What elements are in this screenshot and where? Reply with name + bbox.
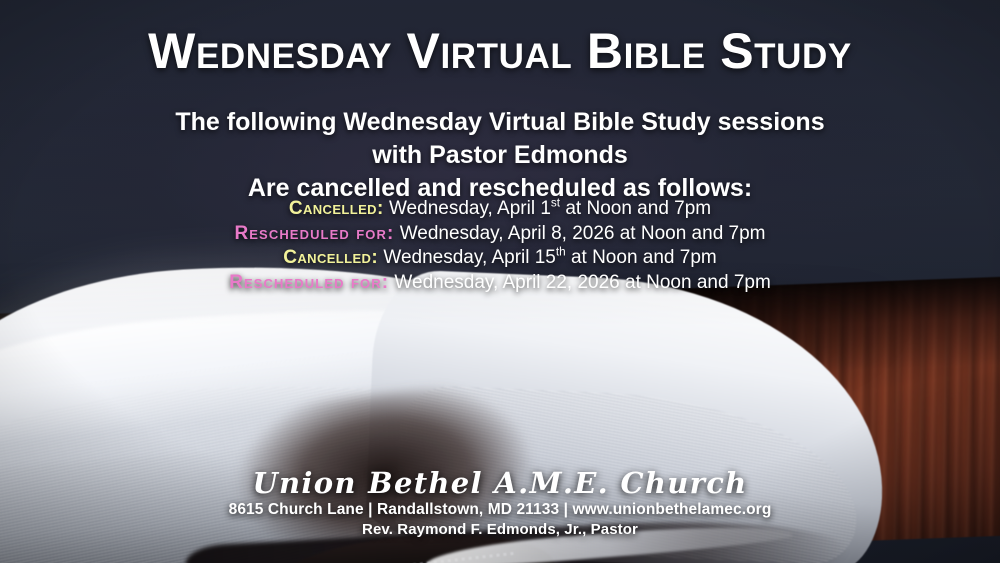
- schedule-value: Wednesday, April 15th at Noon and 7pm: [383, 247, 716, 268]
- schedule-value: Wednesday, April 8, 2026 at Noon and 7pm: [400, 223, 766, 244]
- schedule-date-ordinal: st: [551, 197, 560, 210]
- schedule-row: Rescheduled for: Wednesday, April 8, 202…: [0, 222, 1000, 247]
- flyer-intro-block: The following Wednesday Virtual Bible St…: [0, 106, 1000, 204]
- schedule-row: Rescheduled for: Wednesday, April 22, 20…: [0, 271, 1000, 296]
- schedule-date-suffix: at Noon and 7pm: [560, 198, 711, 219]
- schedule-row: Cancelled: Wednesday, April 1st at Noon …: [0, 197, 1000, 222]
- schedule-date: Wednesday, April 1: [389, 198, 551, 219]
- schedule-date: Wednesday, April 8, 2026 at Noon and 7pm: [400, 223, 766, 244]
- schedule-label-cancelled: Cancelled:: [289, 198, 384, 219]
- schedule-value: Wednesday, April 1st at Noon and 7pm: [389, 198, 711, 219]
- flyer-footer: Union Bethel A.M.E. Church 8615 Church L…: [0, 468, 1000, 541]
- schedule-label-rescheduled: Rescheduled for:: [229, 272, 389, 293]
- schedule-date-suffix: at Noon and 7pm: [566, 247, 717, 268]
- schedule-date: Wednesday, April 15: [383, 247, 556, 268]
- intro-line-2: with Pastor Edmonds: [0, 139, 1000, 172]
- flyer-title: Wednesday Virtual Bible Study: [0, 26, 1000, 76]
- schedule-value: Wednesday, April 22, 2026 at Noon and 7p…: [394, 272, 770, 293]
- schedule-date-ordinal: th: [556, 246, 566, 259]
- church-name: Union Bethel A.M.E. Church: [0, 468, 1000, 499]
- schedule-date: Wednesday, April 22, 2026 at Noon and 7p…: [394, 272, 770, 293]
- pastor-name-line: Rev. Raymond F. Edmonds, Jr., Pastor: [0, 520, 1000, 541]
- schedule-label-rescheduled: Rescheduled for:: [234, 223, 394, 244]
- schedule-list: Cancelled: Wednesday, April 1st at Noon …: [0, 197, 1000, 296]
- intro-line-1: The following Wednesday Virtual Bible St…: [0, 106, 1000, 139]
- church-address-line: 8615 Church Lane | Randallstown, MD 2113…: [0, 499, 1000, 520]
- schedule-row: Cancelled: Wednesday, April 15th at Noon…: [0, 246, 1000, 271]
- flyer-content: Wednesday Virtual Bible Study The follow…: [0, 0, 1000, 563]
- schedule-label-cancelled: Cancelled:: [283, 247, 378, 268]
- bible-study-flyer: Wednesday Virtual Bible Study The follow…: [0, 0, 1000, 563]
